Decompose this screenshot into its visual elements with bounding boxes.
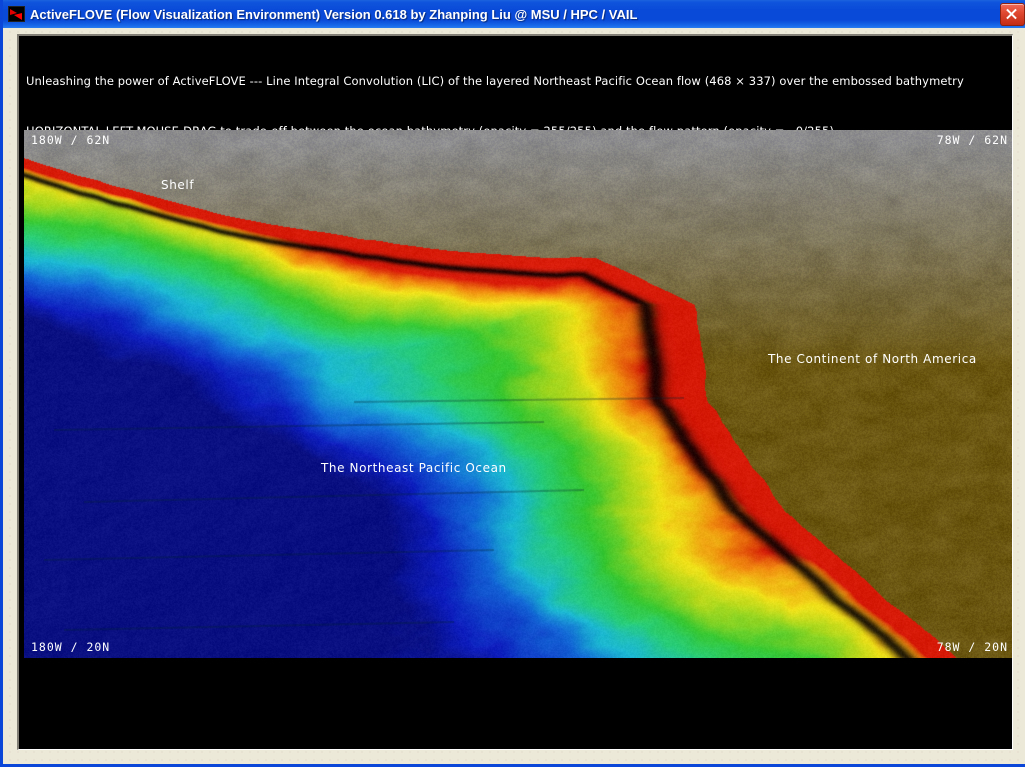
map-label-ocean: The Northeast Pacific Ocean [321, 461, 507, 475]
coord-bottom-left: 180W / 20N [31, 640, 110, 654]
map-label-continent: The Continent of North America [768, 352, 977, 366]
coord-top-left: 180W / 62N [31, 133, 110, 147]
visualization-viewport[interactable]: 180W / 62N 78W / 62N 180W / 20N 78W / 20… [24, 130, 1013, 658]
close-icon[interactable] [1000, 3, 1025, 26]
coord-bottom-right: 78W / 20N [937, 640, 1008, 654]
console-panel[interactable]: Unleashing the power of ActiveFLOVE --- … [17, 34, 1013, 750]
window-title: ActiveFLOVE (Flow Visualization Environm… [30, 7, 637, 22]
bathymetry-flow-canvas[interactable] [24, 130, 1013, 658]
application-window: ActiveFLOVE (Flow Visualization Environm… [0, 0, 1025, 767]
coord-top-right: 78W / 62N [937, 133, 1008, 147]
title-bar[interactable]: ActiveFLOVE (Flow Visualization Environm… [3, 0, 1025, 28]
activeflove-bolt-icon [8, 6, 25, 22]
map-label-shelf: Shelf [161, 178, 194, 192]
client-area: Unleashing the power of ActiveFLOVE --- … [6, 28, 1025, 764]
info-line-1: Unleashing the power of ActiveFLOVE --- … [26, 73, 1010, 90]
